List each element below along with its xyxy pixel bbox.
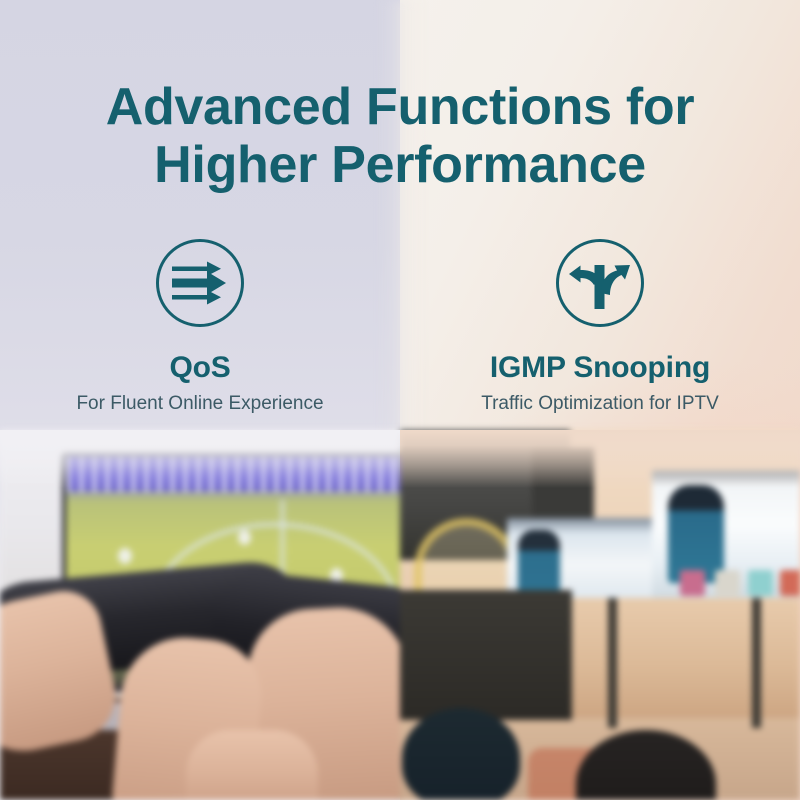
- gaming-photo: [0, 430, 400, 800]
- feature-title: IGMP Snooping: [490, 351, 710, 385]
- feature-qos: QoS For Fluent Online Experience: [0, 237, 400, 442]
- lower-dark-area: [400, 590, 572, 720]
- pitch-player: [238, 530, 251, 545]
- iptv-photo: [400, 430, 800, 800]
- feature-subtitle: Traffic Optimization for IPTV: [481, 392, 719, 415]
- hand: [186, 730, 318, 800]
- screen-thumbnail: [680, 570, 705, 596]
- advanced-functions-banner: Advanced Functions for Higher Performanc…: [0, 0, 800, 800]
- viewer-silhouette: [402, 708, 520, 800]
- pitch-player: [118, 548, 132, 564]
- feature-subtitle: For Fluent Online Experience: [76, 392, 323, 415]
- on-screen-person: [668, 485, 724, 583]
- three-arrows-icon: [154, 237, 246, 329]
- feature-title: QoS: [169, 351, 230, 385]
- screen-thumbnail: [715, 570, 740, 596]
- feature-igmp-snooping: IGMP Snooping Traffic Optimization for I…: [400, 237, 800, 442]
- page-title: Advanced Functions for Higher Performanc…: [0, 78, 800, 194]
- counter-top: [550, 598, 800, 718]
- screen-thumbnail: [748, 570, 773, 596]
- stadium-crowd: [66, 456, 400, 492]
- stand-pole: [752, 598, 761, 728]
- stand-pole: [608, 598, 617, 728]
- branching-arrows-icon: [554, 237, 646, 329]
- feature-row: QoS For Fluent Online Experience IGMP Sn…: [0, 237, 800, 442]
- screen-thumbnail: [780, 570, 800, 596]
- photo-strip: [0, 430, 800, 800]
